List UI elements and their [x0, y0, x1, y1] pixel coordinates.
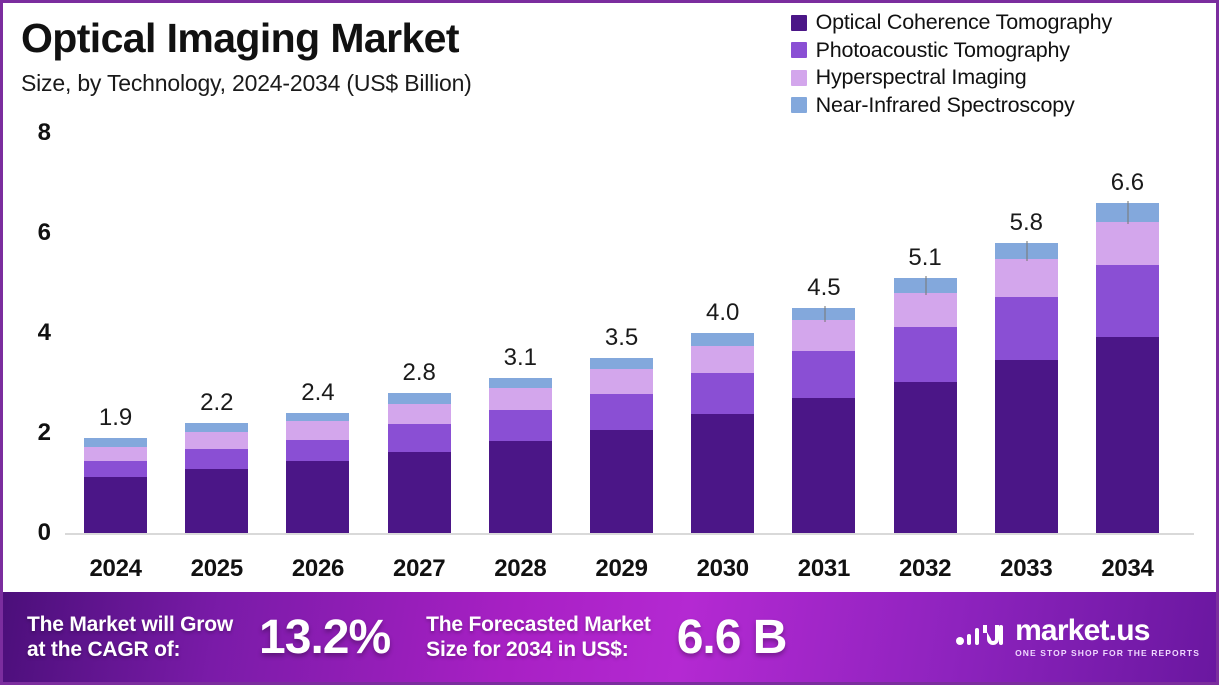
bar-value-label: 6.6	[1111, 169, 1144, 197]
bar-stack[interactable]	[388, 393, 451, 533]
bar-segment[interactable]	[185, 432, 248, 449]
bar-segment[interactable]	[590, 369, 653, 394]
bar-value-label: 2.2	[200, 389, 233, 417]
bar-stack[interactable]	[1096, 203, 1159, 533]
error-bar	[1127, 201, 1129, 224]
bar-segment[interactable]	[691, 333, 754, 346]
x-axis-tick: 2034	[1077, 555, 1178, 583]
chart-subtitle: Size, by Technology, 2024-2034 (US$ Bill…	[21, 70, 681, 97]
bar-segment[interactable]	[185, 469, 248, 534]
x-axis-tick: 2028	[470, 555, 571, 583]
bar-series-group: 1.92.22.42.83.13.54.04.55.15.86.6	[65, 133, 1178, 533]
chart-legend: Optical Coherence TomographyPhotoacousti…	[791, 12, 1112, 116]
bar-stack[interactable]	[590, 358, 653, 533]
bar-value-label: 4.5	[807, 274, 840, 302]
x-axis-tick: 2029	[571, 555, 672, 583]
error-bar	[824, 306, 826, 322]
legend-label: Photoacoustic Tomography	[816, 40, 1070, 62]
logo-text: market.us ONE STOP SHOP FOR THE REPORTS	[1015, 616, 1200, 658]
legend-item-2[interactable]: Hyperspectral Imaging	[791, 67, 1027, 89]
bar-segment[interactable]	[489, 378, 552, 388]
bar-stack[interactable]	[286, 413, 349, 533]
y-axis-tick: 4	[38, 319, 51, 347]
forecast-size-label: The Forecasted Market Size for 2034 in U…	[426, 612, 651, 662]
legend-label: Near-Infrared Spectroscopy	[816, 95, 1075, 117]
legend-item-1[interactable]: Photoacoustic Tomography	[791, 40, 1070, 62]
bar-value-label: 3.1	[504, 344, 537, 372]
bar-segment[interactable]	[489, 441, 552, 534]
y-axis: 02468	[3, 133, 65, 533]
bar-column[interactable]: 2.2	[166, 133, 267, 533]
bar-stack[interactable]	[185, 423, 248, 533]
bar-value-label: 2.4	[301, 379, 334, 407]
legend-swatch-icon	[791, 70, 807, 86]
bar-segment[interactable]	[894, 327, 957, 383]
bar-segment[interactable]	[590, 358, 653, 369]
x-axis-tick: 2030	[672, 555, 773, 583]
bar-segment[interactable]	[489, 410, 552, 441]
bar-column[interactable]: 6.6	[1077, 133, 1178, 533]
legend-swatch-icon	[791, 15, 807, 31]
x-axis-tick: 2031	[773, 555, 874, 583]
bar-segment[interactable]	[185, 449, 248, 469]
legend-swatch-icon	[791, 97, 807, 113]
chart-plot: 02468 1.92.22.42.83.13.54.04.55.15.86.6	[3, 133, 1216, 553]
infographic-frame: Optical Imaging Market Size, by Technolo…	[0, 0, 1219, 685]
bar-value-label: 5.1	[908, 244, 941, 272]
x-axis-tick: 2026	[267, 555, 368, 583]
bar-segment[interactable]	[286, 461, 349, 533]
bar-column[interactable]: 2.4	[267, 133, 368, 533]
bar-segment[interactable]	[388, 393, 451, 404]
bar-segment[interactable]	[84, 461, 147, 477]
bar-segment[interactable]	[691, 346, 754, 374]
bar-column[interactable]: 4.5	[773, 133, 874, 533]
bar-column[interactable]: 1.9	[65, 133, 166, 533]
bar-stack[interactable]	[84, 438, 147, 533]
forecast-size-label-line1: The Forecasted Market	[426, 612, 651, 637]
bar-segment[interactable]	[792, 320, 855, 351]
bar-column[interactable]: 2.8	[369, 133, 470, 533]
error-bar	[925, 276, 927, 295]
bar-value-label: 1.9	[99, 404, 132, 432]
footer-banner: The Market will Grow at the CAGR of: 13.…	[3, 592, 1216, 682]
legend-item-3[interactable]: Near-Infrared Spectroscopy	[791, 95, 1075, 117]
plot-area: 1.92.22.42.83.13.54.04.55.15.86.6	[65, 133, 1178, 533]
bar-column[interactable]: 3.1	[470, 133, 571, 533]
bar-segment[interactable]	[388, 424, 451, 452]
bar-segment[interactable]	[1096, 337, 1159, 534]
bar-segment[interactable]	[286, 421, 349, 440]
legend-label: Hyperspectral Imaging	[816, 67, 1027, 89]
bar-stack[interactable]	[995, 243, 1058, 533]
cagr-value: 13.2%	[259, 610, 390, 665]
bar-value-label: 2.8	[402, 359, 435, 387]
x-axis-tick: 2025	[166, 555, 267, 583]
bar-column[interactable]: 5.1	[875, 133, 976, 533]
bar-segment[interactable]	[388, 452, 451, 534]
bar-stack[interactable]	[792, 308, 855, 533]
bar-segment[interactable]	[286, 413, 349, 421]
bar-segment[interactable]	[185, 423, 248, 432]
x-axis-tick: 2032	[875, 555, 976, 583]
y-axis-tick: 8	[38, 119, 51, 147]
x-axis-tick: 2033	[976, 555, 1077, 583]
bar-value-label: 5.8	[1010, 209, 1043, 237]
x-axis: 2024202520262027202820292030203120322033…	[65, 555, 1178, 583]
bar-segment[interactable]	[388, 404, 451, 425]
legend-label: Optical Coherence Tomography	[816, 12, 1112, 34]
header: Optical Imaging Market Size, by Technolo…	[21, 17, 681, 97]
bar-segment[interactable]	[792, 398, 855, 533]
bar-value-label: 4.0	[706, 299, 739, 327]
cagr-label: The Market will Grow at the CAGR of:	[27, 612, 233, 662]
bar-stack[interactable]	[894, 278, 957, 533]
bar-segment[interactable]	[995, 360, 1058, 534]
legend-item-0[interactable]: Optical Coherence Tomography	[791, 12, 1112, 34]
bar-stack[interactable]	[489, 378, 552, 533]
bar-segment[interactable]	[84, 438, 147, 447]
bar-stack[interactable]	[691, 333, 754, 533]
x-axis-tick: 2027	[369, 555, 470, 583]
bar-column[interactable]: 5.8	[976, 133, 1077, 533]
bar-segment[interactable]	[1096, 222, 1159, 265]
bar-segment[interactable]	[894, 382, 957, 533]
bar-segment[interactable]	[995, 259, 1058, 297]
y-axis-tick: 0	[38, 519, 51, 547]
bar-value-label: 3.5	[605, 324, 638, 352]
cagr-label-line2: at the CAGR of:	[27, 637, 233, 662]
forecast-size-label-line2: Size for 2034 in US$:	[426, 637, 651, 662]
bar-segment[interactable]	[590, 430, 653, 534]
bar-column[interactable]: 3.5	[571, 133, 672, 533]
logo-wordmark: market.us	[1015, 616, 1150, 646]
bar-segment[interactable]	[84, 447, 147, 461]
y-axis-tick: 2	[38, 419, 51, 447]
error-bar	[1026, 241, 1028, 261]
bar-segment[interactable]	[691, 373, 754, 414]
bar-segment[interactable]	[995, 297, 1058, 360]
legend-swatch-icon	[791, 42, 807, 58]
bar-segment[interactable]	[590, 394, 653, 430]
page-title: Optical Imaging Market	[21, 17, 681, 60]
logo-mark-icon	[955, 615, 1007, 660]
market-us-logo[interactable]: market.us ONE STOP SHOP FOR THE REPORTS	[955, 615, 1200, 660]
logo-tagline: ONE STOP SHOP FOR THE REPORTS	[1015, 649, 1200, 658]
x-axis-tick: 2024	[65, 555, 166, 583]
cagr-label-line1: The Market will Grow	[27, 612, 233, 637]
forecast-size-value: 6.6 B	[677, 610, 787, 665]
bar-segment[interactable]	[489, 388, 552, 410]
bar-column[interactable]: 4.0	[672, 133, 773, 533]
bar-segment[interactable]	[691, 414, 754, 533]
bar-segment[interactable]	[792, 351, 855, 399]
axis-baseline	[65, 533, 1194, 535]
y-axis-tick: 6	[38, 219, 51, 247]
bar-segment[interactable]	[286, 440, 349, 462]
bar-segment[interactable]	[1096, 265, 1159, 337]
bar-segment[interactable]	[84, 477, 147, 534]
bar-segment[interactable]	[894, 293, 957, 327]
